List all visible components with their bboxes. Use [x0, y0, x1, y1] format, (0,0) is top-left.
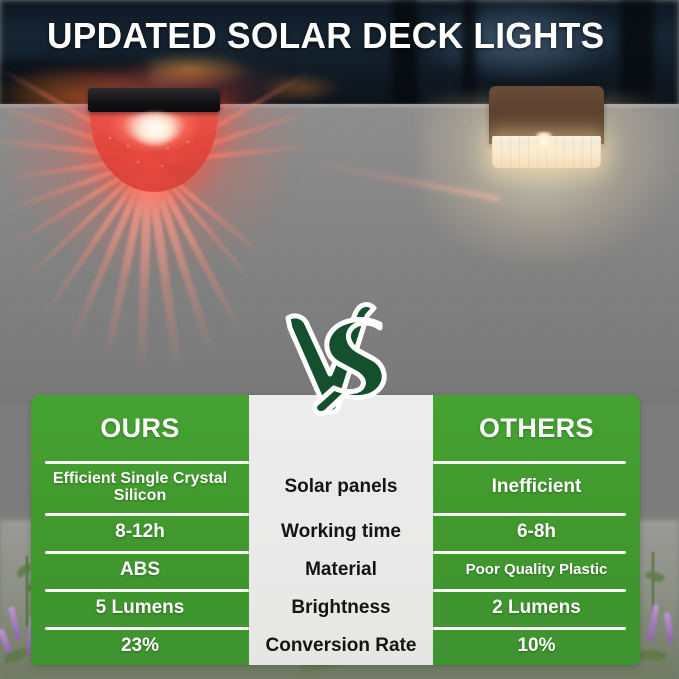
cell-value-feature: Solar panels — [285, 476, 398, 498]
cell-others: 10% — [433, 627, 640, 665]
cell-ours: Efficient Single Crystal Silicon — [31, 461, 249, 513]
page-title: UPDATED SOLAR DECK LIGHTS — [47, 15, 604, 57]
cell-feature: Conversion Rate — [249, 627, 433, 665]
row-divider — [433, 551, 626, 554]
header-cell-others: OTHERS — [433, 395, 640, 461]
row-divider — [45, 551, 249, 554]
table-rows: OURS OTHERS Efficient Single Crystal Sil… — [31, 395, 640, 665]
header-cell-ours: OURS — [31, 395, 249, 461]
cell-others: Inefficient — [433, 461, 640, 513]
row-divider — [45, 513, 249, 516]
cell-value-feature: Conversion Rate — [266, 635, 417, 657]
cell-value-others: Inefficient — [492, 477, 582, 497]
cell-feature: Working time — [249, 513, 433, 551]
header-band: UPDATED SOLAR DECK LIGHTS — [0, 0, 679, 72]
vs-icon — [268, 300, 418, 420]
left-solar-deck-light-housing — [88, 88, 220, 112]
cell-value-ours: 5 Lumens — [96, 598, 185, 618]
row-divider — [433, 627, 626, 630]
row-divider — [45, 461, 249, 464]
column-title-others: OTHERS — [479, 413, 594, 444]
led-hotspot — [132, 112, 178, 146]
cell-feature: Material — [249, 551, 433, 589]
table-row: ABS Material Poor Quality Plastic — [31, 551, 640, 589]
row-divider — [45, 589, 249, 592]
cell-feature: Solar panels — [249, 461, 433, 513]
cell-value-ours: ABS — [120, 560, 160, 580]
row-divider — [433, 461, 626, 464]
comparison-table: OURS OTHERS Efficient Single Crystal Sil… — [31, 395, 640, 665]
cell-value-ours: 23% — [121, 636, 159, 656]
cell-value-others: Poor Quality Plastic — [466, 562, 608, 578]
cell-others: Poor Quality Plastic — [433, 551, 640, 589]
table-row: 5 Lumens Brightness 2 Lumens — [31, 589, 640, 627]
cell-value-ours: 8-12h — [115, 522, 165, 542]
cell-others: 6-8h — [433, 513, 640, 551]
cell-value-feature: Material — [305, 559, 377, 581]
right-bulb — [536, 132, 552, 150]
table-row: 23% Conversion Rate 10% — [31, 627, 640, 665]
cell-value-others: 6-8h — [517, 522, 556, 542]
table-row: Efficient Single Crystal Silicon Solar p… — [31, 461, 640, 513]
cell-value-others: 2 Lumens — [492, 598, 581, 618]
vs-badge — [268, 300, 418, 420]
cell-ours: 5 Lumens — [31, 589, 249, 627]
row-divider — [433, 513, 626, 516]
table-row: 8-12h Working time 6-8h — [31, 513, 640, 551]
cell-value-feature: Brightness — [291, 597, 390, 619]
cell-ours: ABS — [31, 551, 249, 589]
cell-ours: 23% — [31, 627, 249, 665]
row-divider — [433, 589, 626, 592]
cell-ours: 8-12h — [31, 513, 249, 551]
cell-feature: Brightness — [249, 589, 433, 627]
infographic-canvas: UPDATED SOLAR DECK LIGHTS OURS — [0, 0, 679, 679]
row-divider — [45, 627, 249, 630]
column-title-ours: OURS — [100, 413, 180, 444]
cell-value-others: 10% — [517, 636, 555, 656]
cell-value-ours: Efficient Single Crystal Silicon — [39, 470, 241, 504]
cell-value-feature: Working time — [281, 521, 401, 543]
cell-others: 2 Lumens — [433, 589, 640, 627]
